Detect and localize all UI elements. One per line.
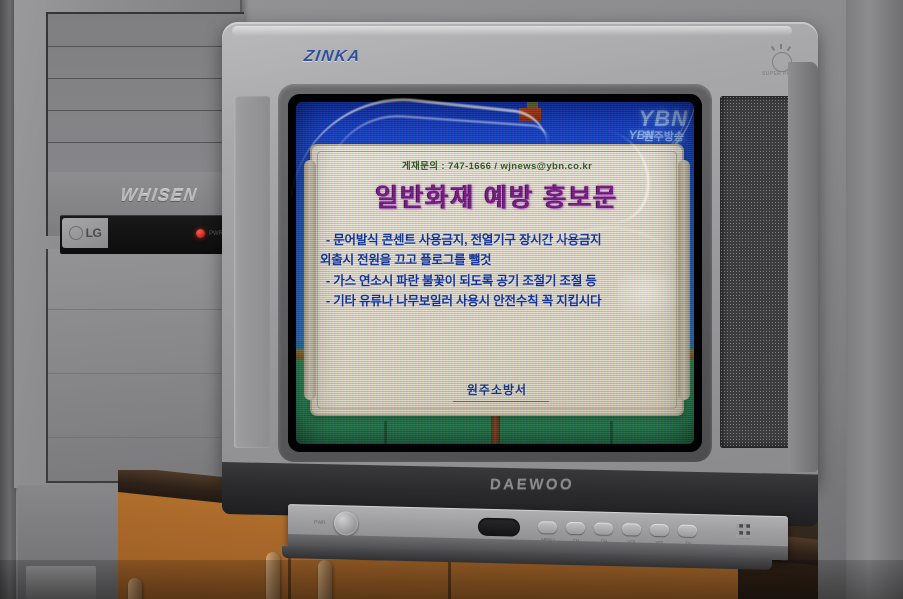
- room-scene: WHISEN LG PWR ZINKA SUPER PURE FLAT: [0, 0, 903, 599]
- lg-logo: LG: [62, 218, 108, 248]
- control-button-vol-down[interactable]: [650, 524, 669, 536]
- announcement-signature: 원주소방서: [312, 381, 682, 398]
- power-knob[interactable]: [334, 511, 358, 536]
- bullet-line: - 기타 유류나 나무보일러 사용시 안전수칙 꼭 지킵시다: [320, 291, 674, 311]
- ac-power-led-label: PWR: [209, 231, 223, 237]
- control-button-ch-down[interactable]: [594, 522, 613, 534]
- broadcast-picture: YBN YBN 원주방송 게재문의 : 747-1666 / wjnews@yb…: [296, 102, 694, 444]
- announcement-panel: 게재문의 : 747-1666 / wjnews@ybn.co.kr 일반화재 …: [310, 144, 684, 416]
- tv-brand-daewoo: DAEWOO: [489, 476, 574, 493]
- room-wall-right: [846, 0, 903, 599]
- ybn-logo-korean: 원주방송: [644, 128, 684, 144]
- bullet-line: - 문어발식 콘센트 사용금지, 전열기구 장시간 사용금지: [320, 230, 674, 250]
- ac-power-led-icon: [196, 229, 205, 238]
- control-panel-vent-icon: [736, 524, 750, 538]
- control-button-tv-input[interactable]: [678, 525, 697, 537]
- ac-louver-grille: [46, 12, 244, 176]
- lg-circle-icon: [69, 226, 83, 240]
- lg-logo-label: LG: [86, 226, 102, 240]
- contact-line: 게재문의 : 747-1666 / wjnews@ybn.co.kr: [312, 158, 682, 172]
- crt-television: ZINKA SUPER PURE FLAT: [222, 22, 818, 542]
- tv-screen: YBN YBN 원주방송 게재문의 : 747-1666 / wjnews@yb…: [288, 94, 702, 452]
- remote-sensor-window: [478, 518, 520, 537]
- control-button-menu[interactable]: [538, 521, 557, 533]
- bullet-line: - 가스 연소시 파란 불꽃이 되도록 공기 조절기 조절 등: [320, 271, 674, 291]
- tv-side-right: [788, 62, 818, 472]
- announcement-headline: 일반화재 예방 홍보문: [312, 178, 682, 214]
- control-button-ch-up[interactable]: [566, 522, 585, 534]
- tv-speaker-left: [234, 96, 270, 448]
- ac-model-label: WHISEN: [118, 186, 227, 212]
- power-knob-label: PWR: [314, 520, 326, 526]
- tv-brand-zinka: ZINKA: [303, 48, 362, 66]
- ac-lower-panel: [46, 249, 244, 483]
- signature-underline: [453, 401, 549, 403]
- bullet-line: 외출시 전원을 끄고 플로그를 뺄것: [320, 250, 674, 270]
- control-button-vol-up[interactable]: [622, 523, 641, 535]
- announcement-bullets: - 문어발식 콘센트 사용금지, 전열기구 장시간 사용금지 외출시 전원을 끄…: [320, 230, 674, 311]
- tv-top-highlight: [232, 26, 792, 36]
